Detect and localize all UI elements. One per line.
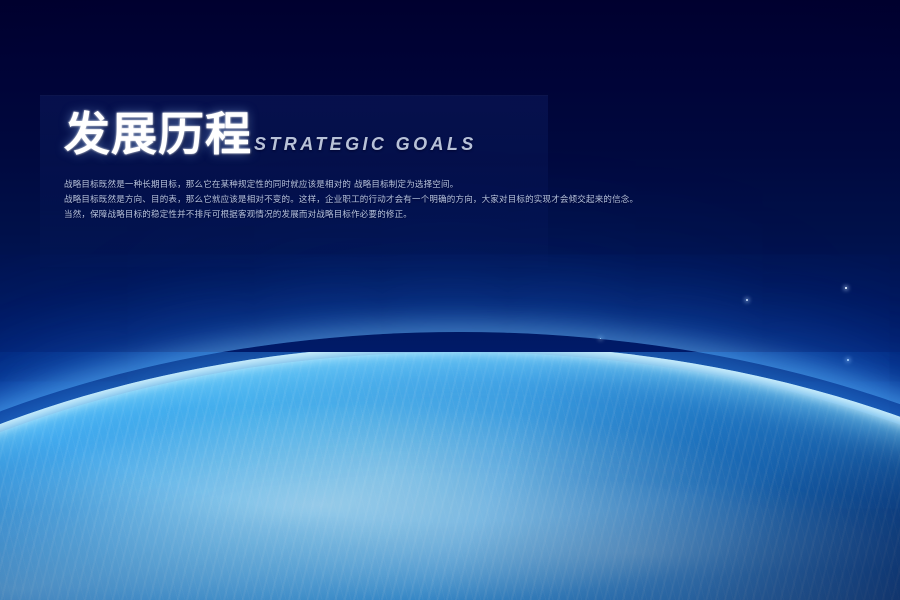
star-faint-center-icon [600,338,601,339]
banner-body-copy: 战略目标既然是一种长期目标，那么它在某种规定性的同时就应该是相对的 战略目标制定… [64,178,534,223]
star-faint-lower-right-icon [847,359,848,360]
body-copy-line: 战略目标既然是方向、目的表，那么它就应该是相对不变的。这样，企业职工的行动才会有… [64,193,534,208]
page-title: 发展历程 [64,108,252,160]
body-copy-line: 战略目标既然是一种长期目标，那么它在某种规定性的同时就应该是相对的 战略目标制定… [64,178,534,193]
page-subtitle: STRATEGIC GOALS [254,132,477,156]
star-mid-right-icon [746,299,748,301]
banner-scene: 发展历程 STRATEGIC GOALS 战略目标既然是一种长期目标，那么它在某… [0,0,900,600]
star-faint-far-left-icon [62,470,63,471]
title-row: 发展历程 STRATEGIC GOALS [64,108,534,160]
star-bright-left-icon [15,435,17,437]
star-faint-right-icon [845,287,846,288]
star-field [0,0,900,600]
body-copy-line: 当然，保障战略目标的稳定性并不排斥可根据客观情况的发展而对战略目标作必要的修正。 [64,208,534,223]
star-small-upper-left-icon [159,413,161,415]
banner-header: 发展历程 STRATEGIC GOALS 战略目标既然是一种长期目标，那么它在某… [64,108,534,223]
